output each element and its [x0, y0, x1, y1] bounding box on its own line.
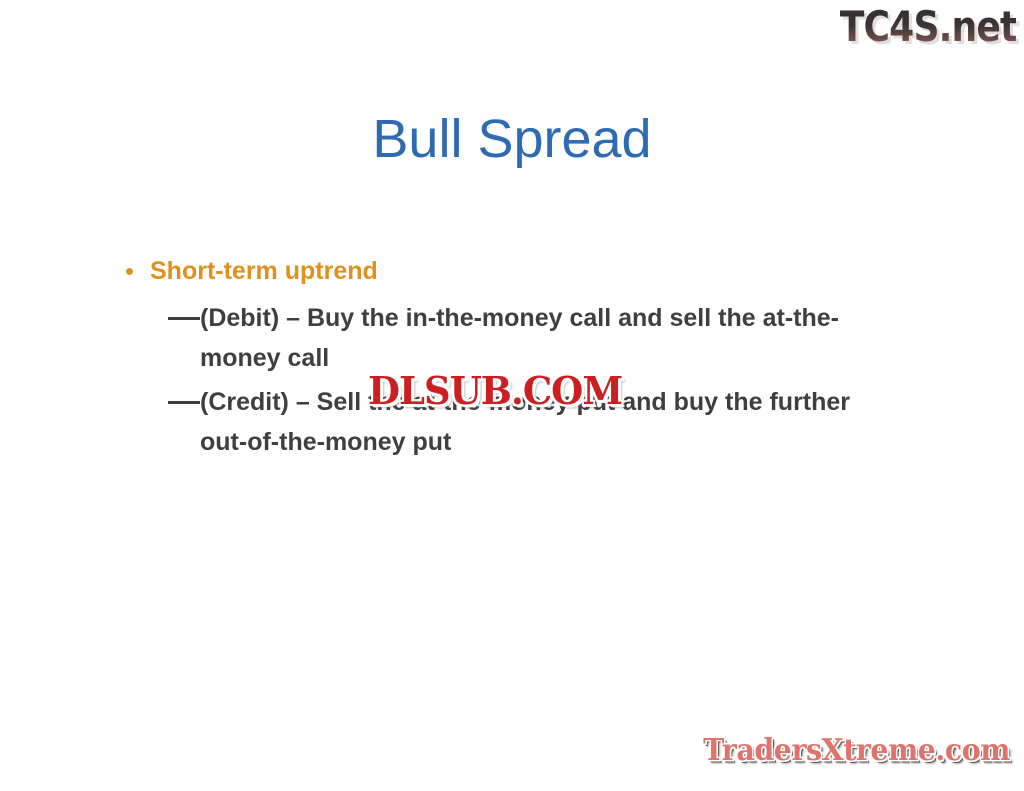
- tradersxtreme-footer-logo: TradersXtreme.com: [703, 733, 1010, 769]
- em-dash-icon: [168, 317, 200, 320]
- em-dash-icon: [168, 401, 200, 404]
- bullet-dot-icon: [126, 268, 133, 275]
- dlsub-watermark-text: DLSUB.COM: [368, 368, 622, 413]
- dlsub-watermark: DLSUB.COM: [368, 371, 622, 411]
- list-item-level1: Short-term uptrend: [120, 252, 880, 290]
- bullet-list: Short-term uptrend (Debit) – Buy the in-…: [120, 252, 880, 466]
- list-item-label: Short-term uptrend: [150, 257, 378, 285]
- page-title: Bull Spread: [0, 108, 1024, 170]
- presentation-slide: TC4S.net TC4S.net Bull Spread Short-term…: [0, 0, 1024, 791]
- tc4s-brand-logo: TC4S.net: [839, 2, 1016, 52]
- list-item-label: (Debit) – Buy the in-the-money call and …: [200, 298, 880, 378]
- list-item-level2-debit: (Debit) – Buy the in-the-money call and …: [120, 298, 880, 378]
